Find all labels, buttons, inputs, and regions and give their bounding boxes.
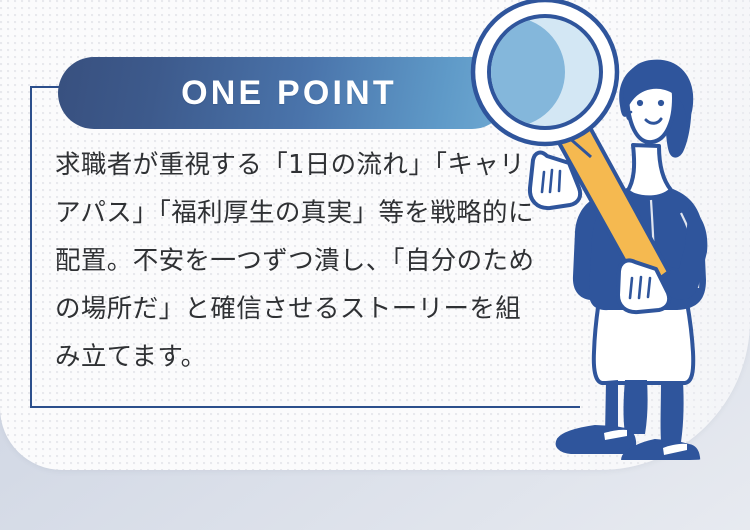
screenshot-root: ONE POINT 求職者が重視する「1日の流れ」「キャリアパス」「福利厚生の真… [0,0,750,530]
one-point-badge: ONE POINT [58,57,508,129]
one-point-badge-label: ONE POINT [169,76,397,110]
one-point-body-text: 求職者が重視する「1日の流れ」「キャリアパス」「福利厚生の真実」等を戦略的に配置… [55,141,535,381]
